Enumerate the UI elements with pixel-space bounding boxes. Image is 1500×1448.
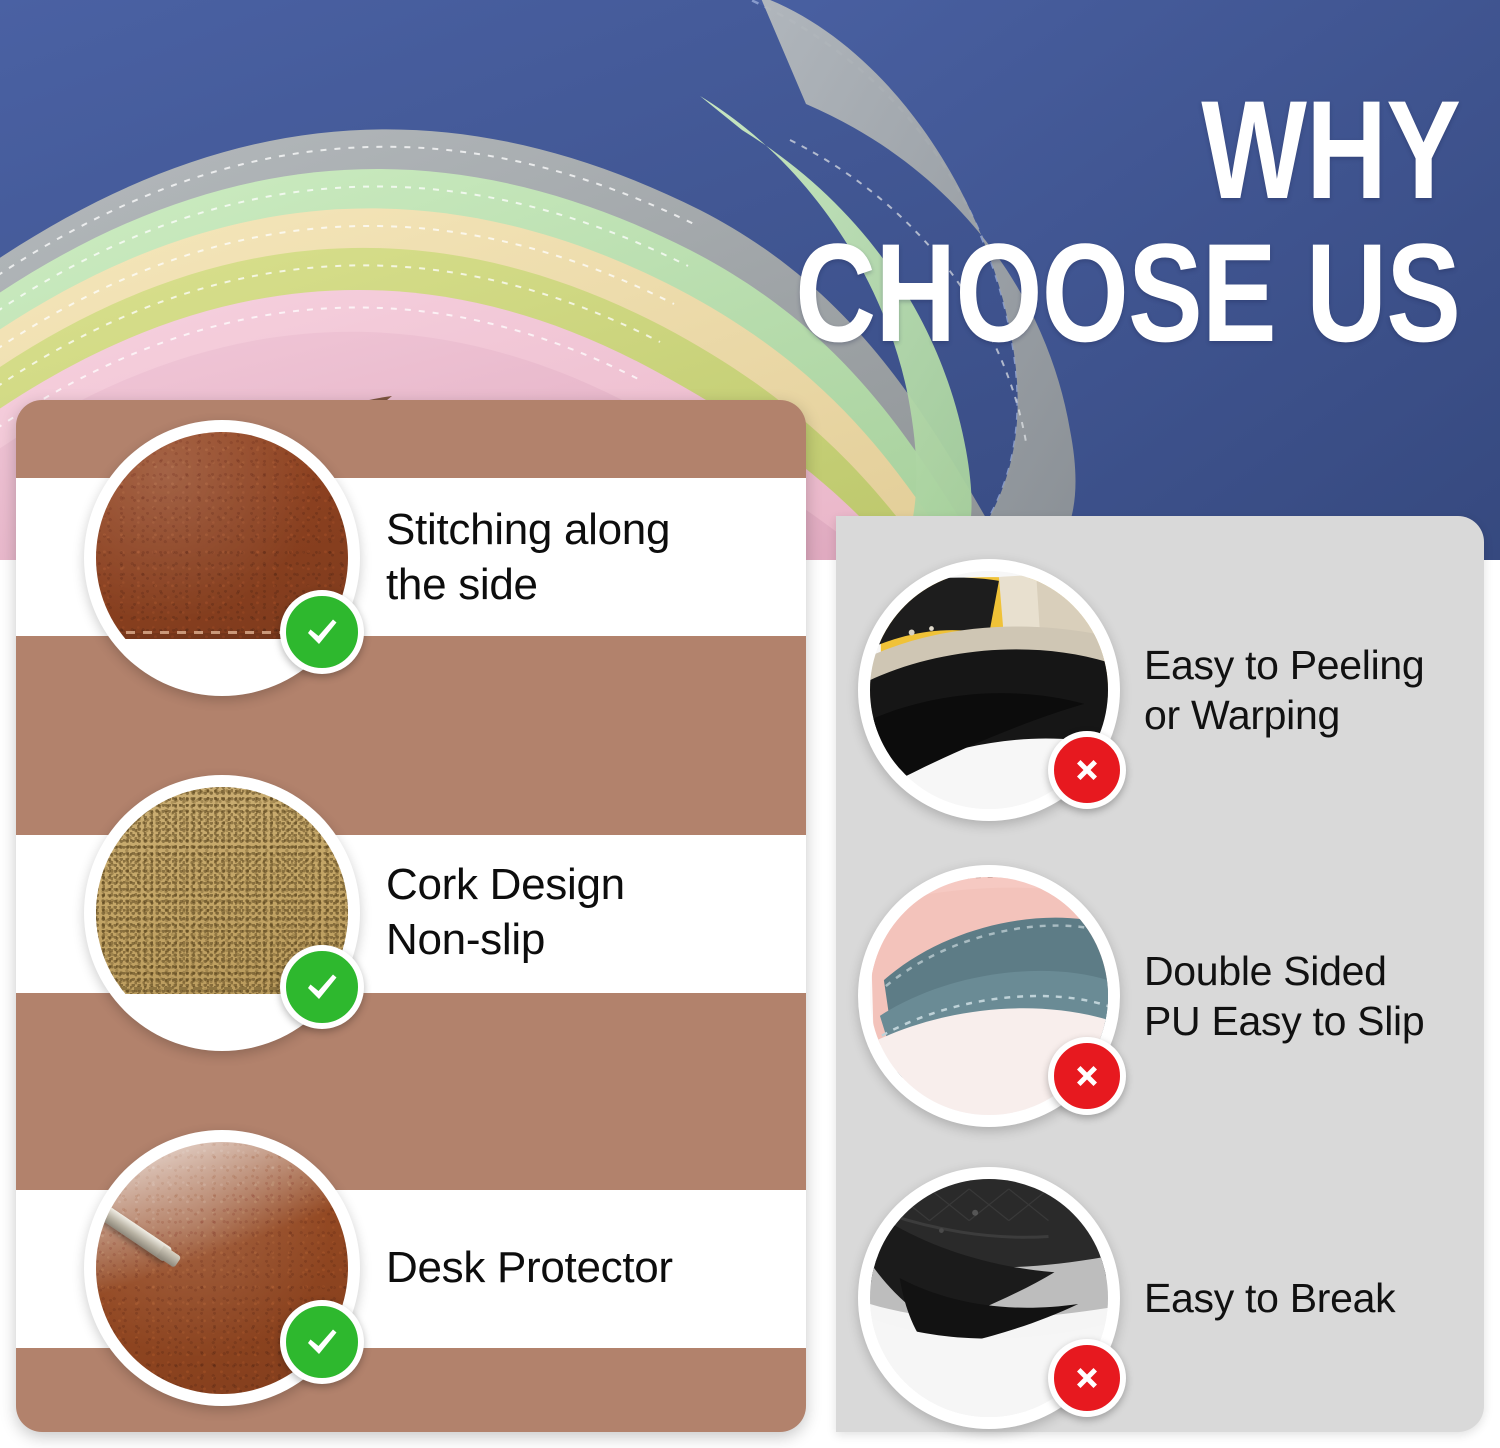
pro-item-2: Desk Protector bbox=[16, 1118, 806, 1418]
con-item-1: Double Sided PU Easy to Slip bbox=[836, 846, 1484, 1146]
pro-item-label-1: Cork Design Non-slip bbox=[386, 858, 625, 967]
pro-label-line-2: the side bbox=[386, 558, 670, 613]
cross-icon bbox=[1048, 731, 1126, 809]
pro-label-line-1: Desk Protector bbox=[386, 1241, 673, 1296]
pro-item-label-2: Desk Protector bbox=[386, 1241, 673, 1296]
cons-panel: Easy to Peeling or Warping bbox=[836, 516, 1484, 1432]
con-thumbnail-double-sided-pu bbox=[858, 865, 1120, 1127]
headline-line-2: CHOOSE US bbox=[795, 229, 1460, 358]
page-title: WHY CHOOSE US bbox=[629, 86, 1460, 358]
pro-item-1: Cork Design Non-slip bbox=[16, 763, 806, 1063]
con-thumbnail-cracked-material bbox=[858, 1167, 1120, 1429]
cross-icon bbox=[1048, 1339, 1126, 1417]
con-label-line-1: Easy to Break bbox=[1144, 1273, 1395, 1323]
pro-label-line-2: Non-slip bbox=[386, 913, 625, 968]
con-thumbnail-peeling bbox=[858, 559, 1120, 821]
cross-icon bbox=[1048, 1037, 1126, 1115]
con-label-line-1: Double Sided bbox=[1144, 946, 1424, 996]
check-icon bbox=[280, 1300, 364, 1384]
check-icon bbox=[280, 945, 364, 1029]
con-label-line-2: PU Easy to Slip bbox=[1144, 996, 1424, 1046]
con-label-line-1: Easy to Peeling bbox=[1144, 640, 1424, 690]
con-label-line-2: or Warping bbox=[1144, 690, 1424, 740]
pro-label-line-1: Cork Design bbox=[386, 858, 625, 913]
pros-panel: Stitching along the side Cork Design Non… bbox=[16, 400, 806, 1432]
pro-thumbnail-desk-protector bbox=[84, 1130, 360, 1406]
pro-item-label-0: Stitching along the side bbox=[386, 503, 670, 612]
con-item-label-2: Easy to Break bbox=[1144, 1273, 1395, 1323]
key-tip bbox=[157, 1245, 182, 1267]
pro-label-line-1: Stitching along bbox=[386, 503, 670, 558]
con-item-label-0: Easy to Peeling or Warping bbox=[1144, 640, 1424, 740]
pro-thumbnail-cork bbox=[84, 775, 360, 1051]
pro-thumbnail-stitched-edge bbox=[84, 420, 360, 696]
con-item-2: Easy to Break bbox=[836, 1148, 1484, 1448]
headline-line-1: WHY bbox=[795, 86, 1460, 215]
con-item-label-1: Double Sided PU Easy to Slip bbox=[1144, 946, 1424, 1046]
check-icon bbox=[280, 590, 364, 674]
con-item-0: Easy to Peeling or Warping bbox=[836, 540, 1484, 840]
pro-item-0: Stitching along the side bbox=[16, 408, 806, 708]
